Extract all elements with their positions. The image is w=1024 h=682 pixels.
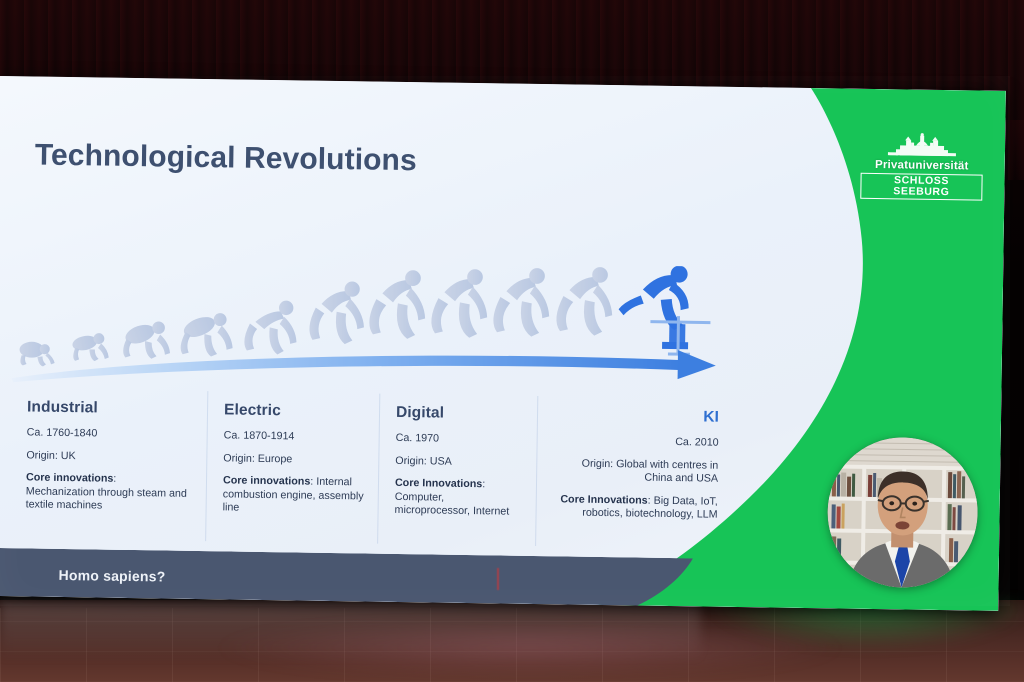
column-innovations: Core Innovations: Big Data, IoT, robotic… (552, 493, 717, 523)
castle-icon (886, 131, 958, 158)
column-digital: Digital Ca. 1970 Origin: USA Core Innova… (377, 394, 537, 546)
logo-line-2: SCHLOSS SEEBURG (860, 173, 982, 201)
column-heading: Digital (396, 404, 523, 424)
column-ki: KI Ca. 2010 Origin: Global with centres … (535, 396, 727, 549)
column-origin: Origin: UK (26, 449, 192, 465)
column-heading: Industrial (27, 398, 193, 418)
column-innovations-label: Core innovations (223, 475, 310, 488)
column-innovations: Core innovations: Internal combustion en… (223, 475, 365, 518)
column-electric: Electric Ca. 1870-1914 Origin: Europe Co… (205, 391, 379, 544)
column-date: Ca. 1870-1914 (224, 429, 365, 445)
column-innovations-text: Mechanization through steam and textile … (26, 485, 187, 512)
column-industrial: Industrial Ca. 1760-1840 Origin: UK Core… (9, 388, 207, 541)
footer-label: Homo sapiens? (58, 567, 165, 585)
column-date: Ca. 1970 (396, 432, 523, 447)
column-origin: Origin: Global with centres in China and… (553, 457, 718, 487)
column-date: Ca. 2010 (554, 434, 719, 450)
university-logo: Privatuniversität SCHLOSS SEEBURG (860, 131, 983, 201)
presentation-slide: Privatuniversität SCHLOSS SEEBURG Techno… (0, 76, 1006, 611)
column-innovations-label: Core innovations (26, 472, 113, 485)
stage-photo-scene: Privatuniversität SCHLOSS SEEBURG Techno… (0, 0, 1024, 682)
logo-line-1: Privatuniversität (861, 159, 983, 173)
column-date: Ca. 1760-1840 (27, 426, 193, 442)
column-heading: Electric (224, 401, 365, 421)
column-origin: Origin: Europe (223, 452, 364, 468)
column-innovations-text: Computer, microprocessor, Internet (395, 491, 510, 518)
column-innovations: Core Innovations: Computer, microprocess… (394, 477, 522, 520)
laser-pointer-dot (497, 568, 499, 590)
column-innovations-label: Core Innovations (395, 477, 482, 490)
revolution-columns: Industrial Ca. 1760-1840 Origin: UK Core… (9, 388, 727, 549)
column-innovations: Core innovations:Mechanization through s… (26, 472, 193, 515)
column-innovations-label: Core Innovations (560, 493, 647, 506)
column-heading: KI (554, 406, 719, 426)
projection-screen: Privatuniversität SCHLOSS SEEBURG Techno… (0, 76, 1006, 618)
column-origin: Origin: USA (395, 455, 522, 470)
slide-title: Technological Revolutions (35, 139, 417, 179)
